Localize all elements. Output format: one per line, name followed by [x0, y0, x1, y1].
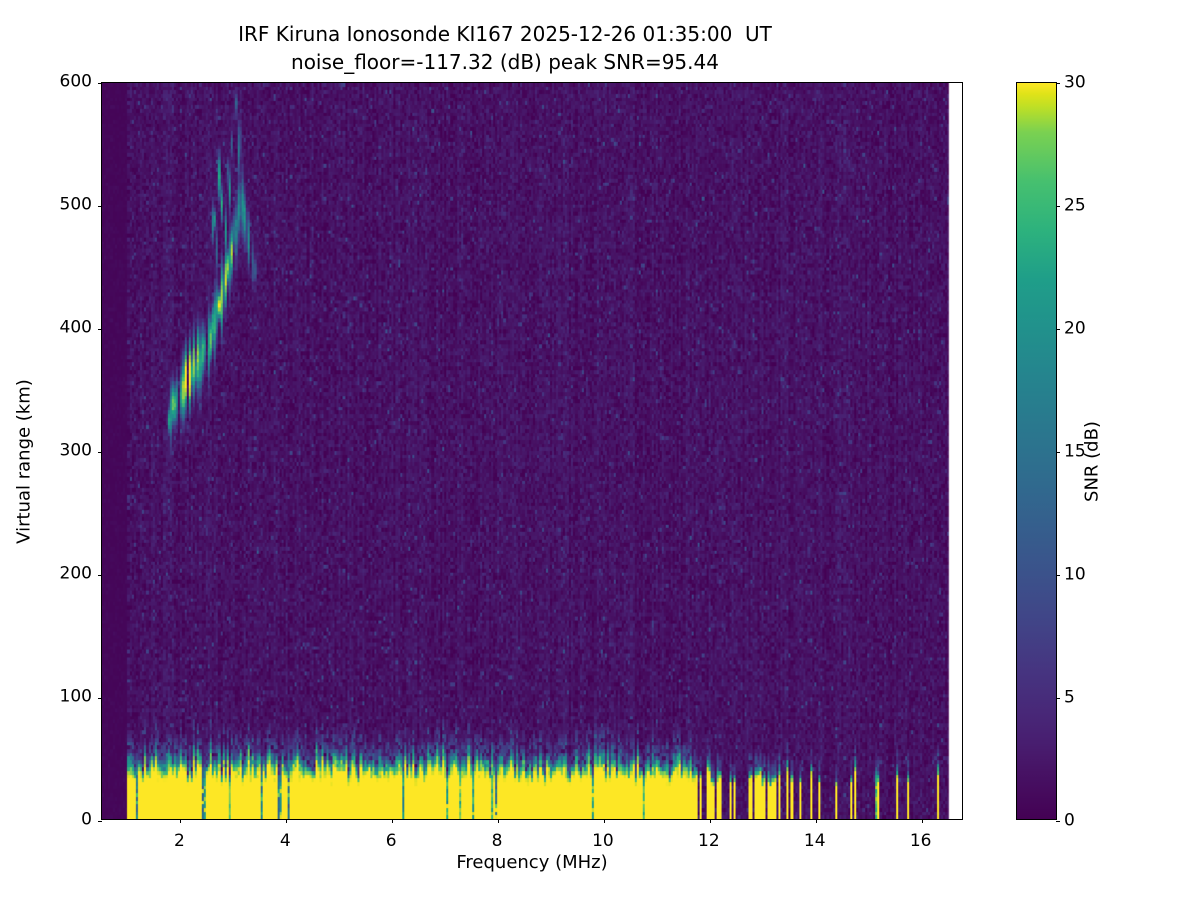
figure-title: IRF Kiruna Ionosonde KI167 2025-12-26 01…: [0, 20, 1010, 76]
x-tick: [710, 819, 711, 823]
colorbar-tick: [1056, 452, 1060, 453]
y-tick-label: 500: [60, 197, 92, 214]
y-tick-label: 100: [60, 689, 92, 706]
x-tick-label: 16: [910, 833, 932, 850]
x-tick: [816, 819, 817, 823]
x-tick-label: 2: [174, 833, 185, 850]
y-tick: [98, 821, 102, 822]
y-tick-label: 600: [60, 74, 92, 91]
x-tick-label: 10: [592, 833, 614, 850]
x-tick-label: 12: [698, 833, 720, 850]
x-tick: [604, 819, 605, 823]
colorbar-tick: [1056, 575, 1060, 576]
y-axis-title: Virtual range (km): [14, 93, 35, 831]
x-tick: [392, 819, 393, 823]
x-tick-label: 14: [804, 833, 826, 850]
x-tick: [286, 819, 287, 823]
colorbar-title: SNR (dB): [1082, 93, 1103, 831]
x-tick-label: 4: [280, 833, 291, 850]
title-line-1: IRF Kiruna Ionosonde KI167 2025-12-26 01…: [0, 20, 1010, 48]
y-tick-label: 200: [60, 566, 92, 583]
colorbar-ticks: 051015202530: [1017, 83, 1056, 819]
y-tick-label: 300: [60, 443, 92, 460]
title-line-2: noise_floor=-117.32 (dB) peak SNR=95.44: [0, 48, 1010, 76]
x-tick: [180, 819, 181, 823]
colorbar-tick: [1056, 698, 1060, 699]
colorbar-tick: [1056, 206, 1060, 207]
plot-area: [101, 82, 963, 820]
colorbar-tick-label: 30: [1064, 75, 1086, 92]
x-tick: [922, 819, 923, 823]
colorbar-tick: [1056, 83, 1060, 84]
x-axis-title: Frequency (MHz): [101, 852, 963, 873]
ionogram-figure: IRF Kiruna Ionosonde KI167 2025-12-26 01…: [0, 0, 1200, 900]
y-tick-label: 0: [81, 812, 92, 829]
y-tick-marks: [102, 83, 962, 819]
colorbar-tick: [1056, 821, 1060, 822]
colorbar-tick-label: 0: [1064, 813, 1075, 830]
y-tick-label: 400: [60, 320, 92, 337]
colorbar-tick: [1056, 329, 1060, 330]
x-tick-label: 8: [492, 833, 503, 850]
x-tick: [498, 819, 499, 823]
colorbar: 051015202530: [1016, 82, 1057, 820]
colorbar-tick-label: 5: [1064, 690, 1075, 707]
x-tick-label: 6: [386, 833, 397, 850]
